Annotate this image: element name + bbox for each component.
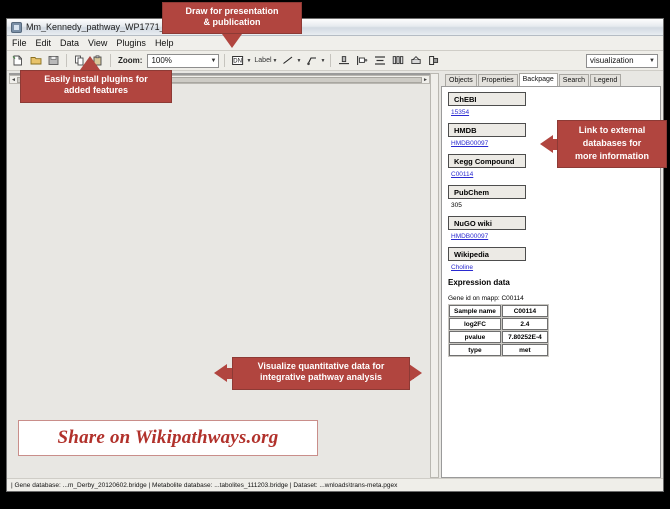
menu-item-edit[interactable]: Edit: [36, 38, 52, 48]
distribute-horizontal-icon[interactable]: [390, 53, 405, 68]
callout-plugins-line1: Easily install plugins for: [27, 74, 165, 85]
db-entry-wikipedia: Wikipedia Choline: [448, 247, 660, 271]
gene-id-label: Gene id on mapp: C00114: [448, 295, 660, 302]
expr-key-pvalue: pvalue: [449, 331, 501, 343]
table-row: pvalue 7.80252E-4: [449, 331, 548, 343]
callout-visualize-line1: Visualize quantitative data for: [239, 361, 403, 372]
tab-search[interactable]: Search: [559, 74, 589, 86]
svg-text:DN: DN: [233, 59, 242, 65]
line-icon[interactable]: [280, 53, 295, 68]
tab-legend[interactable]: Legend: [590, 74, 621, 86]
callout-link-line2: databases for: [564, 137, 660, 150]
zoom-value: 100%: [151, 56, 171, 65]
table-row: log2FC 2.4: [449, 318, 548, 330]
toolbar-separator-4: [330, 54, 331, 67]
tab-backpage[interactable]: Backpage: [519, 73, 558, 86]
callout-visualize-line2: integrative pathway analysis: [239, 372, 403, 383]
chevron-down-icon: ▼: [296, 58, 301, 64]
db-label-nugo: NuGO wiki: [448, 216, 526, 230]
callout-draw-arrow: [222, 34, 242, 48]
menu-item-data[interactable]: Data: [60, 38, 79, 48]
toolbar-separator-2: [110, 54, 111, 67]
send-to-back-icon[interactable]: [426, 53, 441, 68]
save-file-icon[interactable]: [46, 53, 61, 68]
datanode-dropdown[interactable]: DN ▼: [230, 53, 251, 68]
db-link-chebi[interactable]: 15354: [451, 109, 660, 116]
db-entry-nugo: NuGO wiki HMDB00097: [448, 216, 660, 240]
menu-item-file[interactable]: File: [12, 38, 27, 48]
expr-val-type: met: [502, 344, 548, 356]
db-label-hmdb: HMDB: [448, 123, 526, 137]
expression-data-heading: Expression data: [448, 278, 660, 287]
label-caption: Label: [254, 57, 271, 64]
table-row: Sample name C00114: [449, 305, 548, 317]
label-dropdown[interactable]: Label ▼: [254, 57, 277, 64]
callout-link-databases: Link to external databases for more info…: [557, 120, 667, 168]
menu-item-plugins[interactable]: Plugins: [116, 38, 146, 48]
expr-key-type: type: [449, 344, 501, 356]
zoom-combobox[interactable]: 100% ▼: [147, 54, 219, 68]
menu-bar: File Edit Data View Plugins Help: [7, 36, 663, 51]
chevron-down-icon: ▼: [320, 58, 325, 64]
callout-draw-line2: & publication: [169, 17, 295, 28]
db-entry-pubchem: PubChem 305: [448, 185, 660, 209]
db-label-wikipedia: Wikipedia: [448, 247, 526, 261]
db-link-kegg[interactable]: C00114: [451, 171, 660, 178]
status-text: | Gene database: ...m_Derby_20120602.bri…: [11, 482, 397, 489]
callout-share-text: Share on Wikipathways.org: [58, 427, 279, 449]
new-file-icon[interactable]: [10, 53, 25, 68]
db-label-chebi: ChEBI: [448, 92, 526, 106]
toolbar-separator: [66, 54, 67, 67]
title-bar: Mm_Kennedy_pathway_WP1771_45176.gpml: [7, 19, 663, 36]
status-bar: | Gene database: ...m_Derby_20120602.bri…: [7, 478, 663, 491]
distribute-vertical-icon[interactable]: [372, 53, 387, 68]
align-top-icon[interactable]: [336, 53, 351, 68]
callout-visualize: Visualize quantitative data for integrat…: [232, 357, 410, 390]
screen-root: Mm_Kennedy_pathway_WP1771_45176.gpml Fil…: [0, 0, 670, 509]
tab-properties[interactable]: Properties: [478, 74, 518, 86]
expression-table: Sample name C00114 log2FC 2.4 pvalue 7.8…: [448, 304, 549, 357]
visualization-value: visualization: [590, 56, 634, 65]
line-dropdown[interactable]: ▼: [280, 53, 301, 68]
callout-plugins-line2: added features: [27, 85, 165, 96]
db-entry-chebi: ChEBI 15354: [448, 92, 660, 116]
db-value-pubchem: 305: [451, 202, 660, 209]
callout-draw-line1: Draw for presentation: [169, 6, 295, 17]
callout-share: Share on Wikipathways.org: [18, 420, 318, 456]
scroll-right-icon[interactable]: ►: [423, 77, 428, 83]
open-file-icon[interactable]: [28, 53, 43, 68]
callout-plugins: Easily install plugins for added feature…: [20, 70, 172, 103]
db-link-nugo[interactable]: HMDB00097: [451, 233, 660, 240]
menu-item-view[interactable]: View: [88, 38, 107, 48]
table-row: type met: [449, 344, 548, 356]
expr-val-sample: C00114: [502, 305, 548, 317]
app-icon: [11, 22, 22, 33]
chevron-down-icon: ▼: [246, 58, 251, 64]
chevron-down-icon: ▼: [273, 58, 278, 64]
db-label-pubchem: PubChem: [448, 185, 526, 199]
db-label-kegg: Kegg Compound: [448, 154, 526, 168]
interaction-dropdown[interactable]: ▼: [304, 53, 325, 68]
interaction-icon[interactable]: [304, 53, 319, 68]
chevron-down-icon: ▼: [206, 58, 216, 64]
visualization-combobox[interactable]: visualization ▼: [586, 54, 658, 68]
toolbar-separator-3: [224, 54, 225, 67]
scroll-left-icon[interactable]: ◄: [11, 77, 16, 83]
callout-link-line3: more information: [564, 150, 660, 163]
side-panel-tabs: Objects Properties Backpage Search Legen…: [441, 73, 661, 86]
expr-val-pvalue: 7.80252E-4: [502, 331, 548, 343]
menu-item-help[interactable]: Help: [155, 38, 174, 48]
zoom-label: Zoom:: [118, 56, 142, 65]
toolbar: Zoom: 100% ▼ DN ▼ Label ▼ ▼: [7, 51, 663, 71]
callout-link-line1: Link to external: [564, 124, 660, 137]
callout-draw: Draw for presentation & publication: [162, 2, 302, 34]
tab-objects[interactable]: Objects: [445, 74, 477, 86]
align-left-icon[interactable]: [354, 53, 369, 68]
datanode-icon[interactable]: DN: [230, 53, 245, 68]
chevron-down-icon: ▼: [645, 58, 655, 64]
expr-val-log2fc: 2.4: [502, 318, 548, 330]
panel-splitter[interactable]: [430, 73, 439, 478]
expr-key-sample: Sample name: [449, 305, 501, 317]
expr-key-log2fc: log2FC: [449, 318, 501, 330]
bring-to-front-icon[interactable]: [408, 53, 423, 68]
db-link-wikipedia[interactable]: Choline: [451, 264, 660, 271]
